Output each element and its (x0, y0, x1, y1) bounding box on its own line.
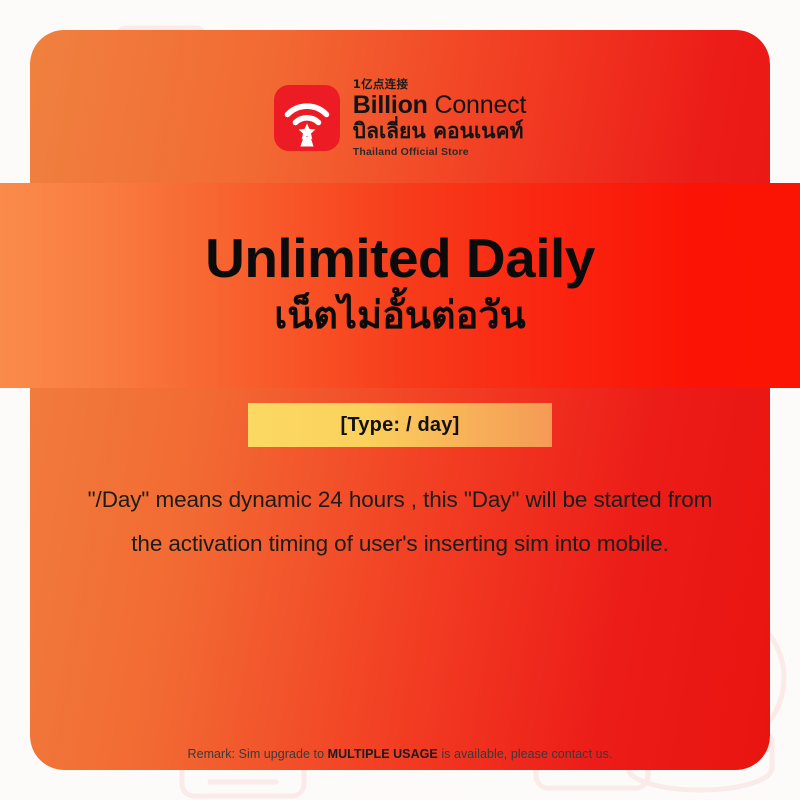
brand-chinese-tagline: 1亿点连接 (353, 79, 526, 91)
brand-wordmark: 1亿点连接 Billion Connect บิลเลี่ยน คอนเนคท์… (353, 79, 526, 157)
brand-logo-lockup: 1亿点连接 Billion Connect บิลเลี่ยน คอนเนคท์… (0, 76, 800, 160)
brand-store-subtitle: Thailand Official Store (353, 147, 526, 158)
brand-name: Billion Connect (353, 92, 526, 118)
euro-coins-icon (628, 606, 784, 790)
brand-name-bold: Billion (353, 91, 428, 119)
brand-name-regular: Connect (435, 91, 527, 119)
remark-prefix: Remark: Sim upgrade to (188, 747, 328, 761)
headline-band: Unlimited Daily เน็ตไม่อั้นต่อวัน (0, 183, 800, 388)
voucher-icon (262, 558, 516, 658)
earbuds-icon (472, 620, 664, 788)
wifi-tower-star-icon (274, 85, 340, 151)
headline-english: Unlimited Daily (205, 231, 595, 286)
footer-remark: Remark: Sim upgrade to MULTIPLE USAGE is… (60, 747, 740, 761)
body-paragraph: "/Day" means dynamic 24 hours , this "Da… (72, 478, 728, 566)
remark-suffix: is available, please contact us. (438, 747, 613, 761)
promo-poster: 1亿点连接 Billion Connect บิลเลี่ยน คอนเนคท์… (0, 0, 800, 800)
type-badge: [Type: / day] (248, 403, 552, 447)
brand-name-thai: บิลเลี่ยน คอนเนคท์ (353, 119, 526, 143)
ticket-icon (58, 600, 178, 704)
type-badge-label: [Type: / day] (341, 414, 460, 437)
headline-thai: เน็ตไม่อั้นต่อวัน (274, 292, 525, 340)
credit-card-icon (508, 560, 694, 678)
remark-emphasis: MULTIPLE USAGE (328, 747, 438, 761)
